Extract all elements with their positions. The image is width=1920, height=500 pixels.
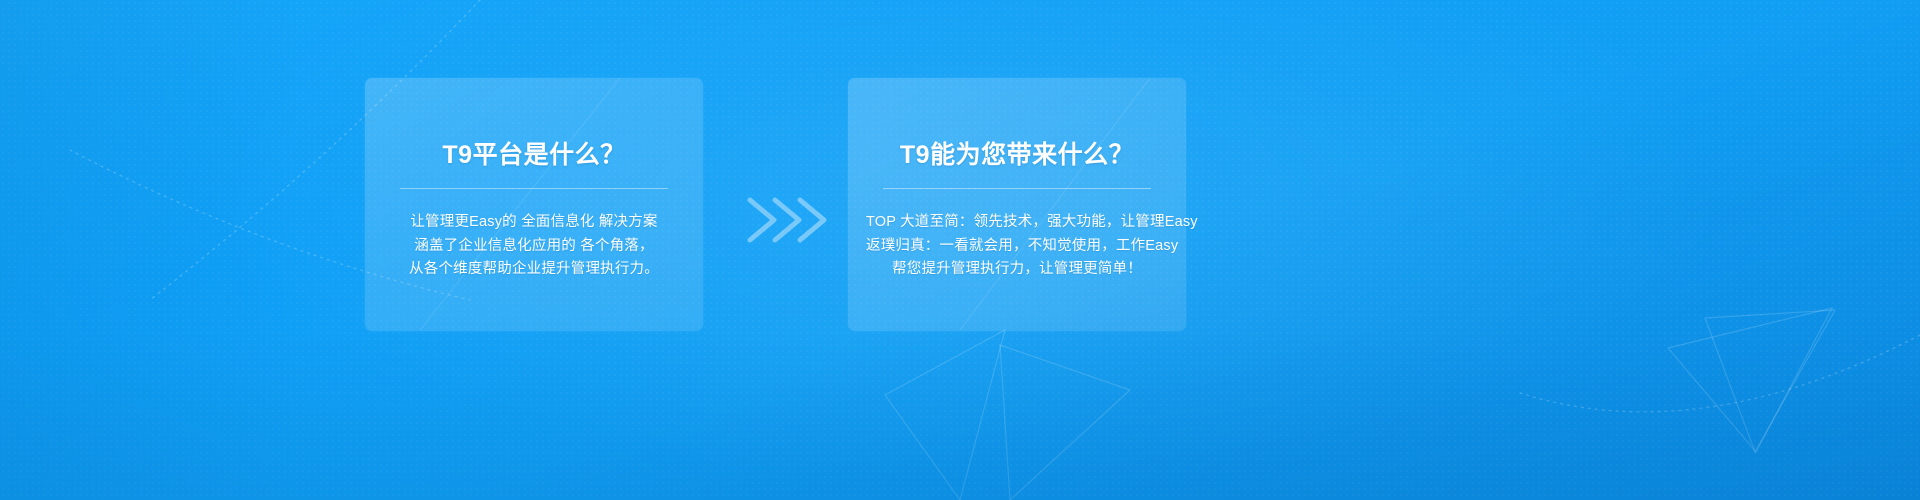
triple-chevron-right-icon <box>744 188 836 252</box>
chevron-3 <box>800 200 824 240</box>
card-body-line: 帮您提升管理执行力，让管理更简单！ <box>866 258 1168 282</box>
chevron-2 <box>775 200 799 240</box>
card-body-line: 从各个维度帮助企业提升管理执行力。 <box>383 258 685 282</box>
chevron-1 <box>750 200 774 240</box>
card-divider <box>400 188 668 189</box>
card-what-t9-brings[interactable]: T9能为您带来什么？ TOP 大道至简：领先技术，强大功能，让管理Easy 返璞… <box>848 78 1186 331</box>
card-body-line: 返璞归真：一看就会用，不知觉使用，工作Easy <box>866 235 1168 259</box>
card-body: 让管理更Easy的 全面信息化 解决方案 涵盖了企业信息化应用的 各个角落， 从… <box>383 211 685 282</box>
card-body-line: 让管理更Easy的 全面信息化 解决方案 <box>383 211 685 235</box>
card-divider <box>883 188 1151 189</box>
card-group: T9平台是什么？ 让管理更Easy的 全面信息化 解决方案 涵盖了企业信息化应用… <box>0 0 1920 500</box>
promo-banner: T9平台是什么？ 让管理更Easy的 全面信息化 解决方案 涵盖了企业信息化应用… <box>0 0 1920 500</box>
card-body: TOP 大道至简：领先技术，强大功能，让管理Easy 返璞归真：一看就会用，不知… <box>866 211 1168 282</box>
card-what-is-t9[interactable]: T9平台是什么？ 让管理更Easy的 全面信息化 解决方案 涵盖了企业信息化应用… <box>365 78 703 331</box>
card-title: T9平台是什么？ <box>365 135 703 171</box>
card-body-line: TOP 大道至简：领先技术，强大功能，让管理Easy <box>866 211 1168 235</box>
card-title: T9能为您带来什么？ <box>848 135 1186 171</box>
card-body-line: 涵盖了企业信息化应用的 各个角落， <box>383 235 685 259</box>
